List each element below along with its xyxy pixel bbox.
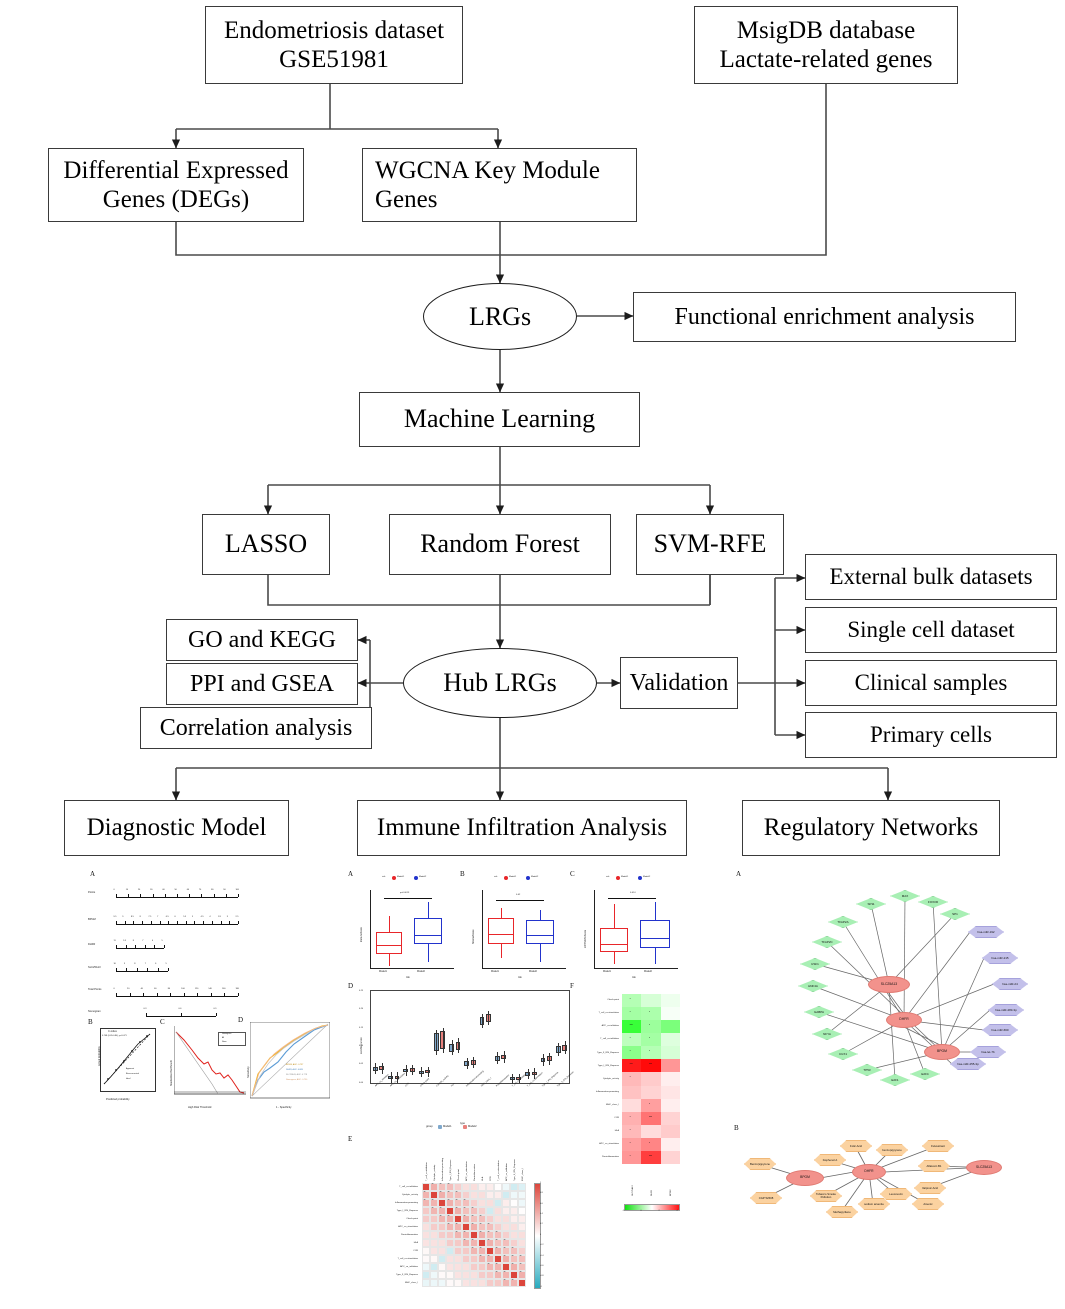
significance-star: **: [496, 1271, 498, 1274]
correlation-scale-tick: -0.6: [540, 1265, 543, 1267]
node-hub-lrgs[interactable]: Hub LRGs: [403, 648, 597, 718]
correlation-cell: [502, 1183, 510, 1191]
significance-star: *: [630, 1011, 631, 1014]
compound-node[interactable]: CGP 52608: [750, 1192, 782, 1204]
nomogram-tick: [221, 921, 222, 924]
correlation-cell: [438, 1279, 446, 1287]
nomogram-tick-label: 5.5: [183, 916, 186, 918]
node-label: LRGs: [469, 302, 531, 332]
node-go-and-kegg[interactable]: GO and KEGG: [166, 619, 358, 661]
heatmap-col-label: SLC25A13: [632, 1185, 634, 1196]
dca-xlabel: High Risk Threshold: [188, 1106, 211, 1109]
calibration-curve: [100, 1028, 154, 1090]
xtick-label: Model1: [491, 970, 499, 973]
correlation-colorbar: [534, 1183, 541, 1289]
nomogram-tick: [140, 894, 141, 897]
nomogram-tick: [145, 945, 146, 948]
ssgsea-whisker: [458, 1038, 459, 1053]
correlation-row-label: APC_co_inhibition: [348, 1266, 418, 1268]
group-swatch-model2: [463, 1125, 467, 1129]
heatmap-cell: [622, 1072, 641, 1085]
node-msigdb-database[interactable]: MsigDB database Lactate-related genes: [694, 6, 958, 84]
significance-star: **: [504, 1271, 506, 1274]
nomogram-tick-label: 8: [134, 963, 135, 965]
significance-star: **: [504, 1255, 506, 1258]
calibration-cindex-value: 0.748 (0.65-0.84); p<0.471: [102, 1035, 127, 1037]
node-label: Single cell dataset: [847, 616, 1014, 643]
nomogram-tick-label: 5: [162, 940, 163, 942]
node-correlation-analysis[interactable]: Correlation analysis: [140, 707, 372, 749]
node-label: Random Forest: [420, 529, 580, 560]
correlation-cell: [422, 1271, 430, 1279]
boxplot-immunescore: A risk Model1 Model2 p=0.0013 ImmuneScor…: [348, 870, 456, 980]
roc-legend-item: SLC25A13, AUC: 0.778: [286, 1074, 307, 1076]
compound-node[interactable]: Benzo(a)pyrene: [744, 1158, 776, 1170]
heatmap-scale-tick: 4: [677, 1210, 678, 1212]
nomogram-row-label: Nomogram: [88, 1010, 101, 1013]
nomogram-tick: [203, 921, 204, 924]
nomogram-tick-label: 9: [124, 963, 125, 965]
nomogram-tick: [165, 894, 166, 897]
dca-legend-item: Nomogram: [222, 1033, 231, 1035]
compound-node[interactable]: benzo(e)pyrene: [876, 1144, 908, 1156]
nomogram-tick-label: 9.5: [123, 940, 126, 942]
significance-star: **: [512, 1279, 514, 1282]
significance-star: **: [496, 1263, 498, 1266]
ssgsea-whisker: [482, 1014, 483, 1029]
correlation-col-label: Type_II_IFN_Reponse: [514, 1159, 516, 1181]
correlation-cell: [510, 1207, 518, 1215]
correlation-cell: [494, 1191, 502, 1199]
significance-star: **: [432, 1183, 434, 1186]
significance-star: **: [440, 1215, 442, 1218]
panel-label-c: C: [160, 1018, 165, 1026]
correlation-col-label: T_cell_co-inhibition: [426, 1162, 428, 1181]
correlation-cell: [422, 1263, 430, 1271]
correlation-cell: [494, 1207, 502, 1215]
significance-star: *: [630, 1155, 631, 1158]
ssgsea-ylabel: ssGSEA score: [360, 1037, 363, 1054]
correlation-cell: [510, 1239, 518, 1247]
nomogram-tick: [125, 921, 126, 924]
correlation-col-label: Cytolytic_activity: [434, 1165, 436, 1181]
significance-star: *: [630, 1116, 631, 1119]
node-ppi-and-gsea[interactable]: PPI and GSEA: [166, 663, 358, 705]
nomogram-tick-label: 7: [157, 916, 158, 918]
nomogram-tick: [168, 968, 169, 971]
correlation-cell: [494, 1199, 502, 1207]
compound-node[interactable]: Leucovorin: [880, 1188, 912, 1200]
nomogram-tick: [189, 894, 190, 897]
significance-star: **: [456, 1199, 458, 1202]
compound-node[interactable]: sodium arsenite: [858, 1198, 890, 1210]
correlation-cell: [494, 1279, 502, 1287]
significance-star: **: [512, 1255, 514, 1258]
correlation-cell: [422, 1183, 430, 1191]
node-svm-rfe[interactable]: SVM-RFE: [636, 514, 784, 575]
nomogram-tick-label: 0.9: [214, 1008, 217, 1010]
correlation-row-label: Cytolytic_activity: [348, 1194, 418, 1196]
legend-swatch-model2: [526, 876, 530, 880]
legend-swatch-model2: [414, 876, 418, 880]
heatmap-cell: [661, 1138, 680, 1151]
node-endometriosis-dataset[interactable]: Endometriosis dataset GSE51981: [205, 6, 463, 84]
correlation-cell: [518, 1183, 526, 1191]
node-label: MsigDB database Lactate-related genes: [719, 16, 932, 75]
correlation-cell: [438, 1231, 446, 1239]
nomogram-tick: [126, 945, 127, 948]
nomogram-tick-label: 90: [223, 889, 225, 891]
ssgsea-whisker: [558, 1043, 559, 1056]
compound-node[interactable]: Valproic Acid: [914, 1182, 946, 1194]
calibration-legend-item: Apparent: [126, 1068, 134, 1070]
heatmap-cell: [641, 1138, 660, 1151]
hub-gene-node[interactable]: DHFR: [886, 1012, 922, 1028]
nomogram-tick-label: 4.5: [201, 916, 204, 918]
significance-star: **: [440, 1207, 442, 1210]
significance-star: **: [456, 1223, 458, 1226]
nomogram-tick: [194, 921, 195, 924]
correlation-cell: [446, 1271, 454, 1279]
ssgsea-xtick-label: HLA: [451, 1083, 456, 1087]
compound-node[interactable]: Folic Acid: [840, 1140, 872, 1152]
nomogram-tick-label: 6.5: [166, 916, 169, 918]
panel-label-f: F: [570, 982, 574, 990]
heatmap-cell: [661, 1125, 680, 1138]
significance-star: **: [480, 1247, 482, 1250]
hub-gene-node[interactable]: BPGM: [924, 1044, 960, 1060]
correlation-cell: [430, 1247, 438, 1255]
correlation-cell: [422, 1207, 430, 1215]
correlation-cell: [470, 1231, 478, 1239]
hub-gene-node[interactable]: SLC25A13: [966, 1160, 1002, 1175]
correlation-col-label: Inflammation-promoting: [442, 1158, 444, 1181]
correlation-cell: [446, 1231, 454, 1239]
correlation-cell: [478, 1239, 486, 1247]
nomogram-tick-label: 80: [211, 889, 213, 891]
nomogram-tick-label: 100: [236, 889, 239, 891]
correlation-cell: [502, 1223, 510, 1231]
node-label: Functional enrichment analysis: [675, 303, 975, 331]
significance-star: **: [448, 1191, 450, 1194]
heatmap-row-label: T_cell_co-inhibition: [571, 1038, 619, 1040]
significance-star: *: [649, 1011, 650, 1014]
node-label: Machine Learning: [404, 404, 595, 435]
nomogram-tick: [184, 993, 185, 996]
node-label: LASSO: [225, 529, 307, 560]
heatmap-cell: [661, 1151, 680, 1164]
roc-ylabel: Sensitivity: [247, 1066, 250, 1078]
nomogram-tick: [212, 921, 213, 924]
heatmap-cell: [641, 1033, 660, 1046]
nomogram-tick: [133, 921, 134, 924]
nomogram-tick-label: 140: [208, 988, 211, 990]
correlation-cell: [446, 1239, 454, 1247]
node-validation[interactable]: Validation: [620, 657, 738, 709]
nomogram-tick-label: 70: [199, 889, 201, 891]
heatmap-cell: [661, 994, 680, 1007]
heatmap-cell: [661, 1072, 680, 1085]
significance-star: **: [464, 1199, 466, 1202]
roc-xlabel: 1 - Specificity: [276, 1106, 291, 1109]
heatmap-scale-tick: 0: [641, 1210, 642, 1212]
significance-star: **: [448, 1183, 450, 1186]
ssgsea-whisker: [473, 1057, 474, 1068]
hub-gene-node[interactable]: BPGM: [786, 1170, 824, 1186]
nomogram-tick-label: 60: [154, 988, 156, 990]
correlation-cell: [446, 1247, 454, 1255]
correlation-scale-tick: -0.2: [540, 1244, 543, 1246]
ssgsea-xtick-label: CCR: [405, 1083, 410, 1088]
nomogram-tick-label: 80: [168, 988, 170, 990]
nomogram-tick: [160, 921, 161, 924]
xtick-label: Model2: [417, 970, 425, 973]
correlation-cell: [486, 1191, 494, 1199]
correlation-cell: [470, 1255, 478, 1263]
significance-star: **: [480, 1223, 482, 1226]
nomogram-tick: [238, 894, 239, 897]
nomogram-tick-label: 20: [138, 889, 140, 891]
calibration-cindex-title: C-index: [108, 1030, 117, 1033]
xlabel: risk: [632, 976, 636, 979]
heatmap-row-label: Cytolytic_activity: [571, 1078, 619, 1080]
heatmap-scale-tick: 2: [659, 1210, 660, 1212]
correlation-row-label: MHC_class_I: [348, 1282, 418, 1284]
nomogram-tick-label: 11: [114, 940, 116, 942]
node-machine-learning[interactable]: Machine Learning: [359, 392, 640, 447]
nomogram-tick: [126, 968, 127, 971]
hub-gene-node[interactable]: SLC25A13: [868, 976, 910, 993]
nomogram-tick: [216, 1013, 217, 1016]
box-model1: [376, 932, 402, 954]
nomogram-tick-label: 9: [122, 916, 123, 918]
ssgsea-whisker: [421, 1067, 422, 1077]
significance-star: **: [520, 1255, 522, 1258]
heatmap-cell: [641, 1020, 660, 1033]
roc-plot: D Sensitivity 1 - Specificity BPGM, AUC:…: [238, 1018, 348, 1123]
nomogram-tick: [168, 921, 169, 924]
ssgsea-whisker: [504, 1051, 505, 1063]
correlation-scale-tick: 0.6: [540, 1203, 543, 1205]
significance-star: *: [630, 1037, 631, 1040]
significance-star: **: [480, 1255, 482, 1258]
node-random-forest[interactable]: Random Forest: [389, 514, 611, 575]
correlation-cell: [470, 1191, 478, 1199]
heatmap-cell: [641, 1046, 660, 1059]
boxplot-stromalscore: B risk Model1 Model2 0.42 StromalScore M…: [460, 870, 568, 980]
correlation-row-label: HLA: [348, 1242, 418, 1244]
correlation-cell: [438, 1255, 446, 1263]
nomogram-tick-label: 7.5: [148, 916, 151, 918]
ssgsea-whisker: [543, 1054, 544, 1066]
ssgsea-whisker: [443, 1028, 444, 1053]
heatmap-row-label: Inflammation-promoting: [571, 1091, 619, 1093]
correlation-cell: [478, 1271, 486, 1279]
correlation-cell: [518, 1231, 526, 1239]
node-primary-cells[interactable]: Primary cells: [805, 712, 1057, 758]
correlation-cell: [486, 1279, 494, 1287]
nomogram-tick: [116, 993, 117, 996]
heatmap-cell: [622, 1138, 641, 1151]
significance-star: **: [456, 1231, 458, 1234]
nomogram-row-label: SLC25A13: [88, 966, 101, 969]
panel-label-a: A: [348, 870, 353, 878]
correlation-cell: [502, 1231, 510, 1239]
correlation-cell: [510, 1215, 518, 1223]
significance-star: **: [480, 1215, 482, 1218]
ssgsea-ytick-label: 0.20: [359, 1008, 363, 1010]
node-label: Diagnostic Model: [87, 813, 267, 843]
ssgsea-whisker: [428, 1067, 429, 1077]
correlation-cell: [462, 1263, 470, 1271]
hub-gene-node[interactable]: DHFR: [852, 1164, 886, 1180]
correlation-cell: [454, 1247, 462, 1255]
node-functional-enrichment-analysis[interactable]: Functional enrichment analysis: [633, 292, 1016, 342]
correlation-cell: [454, 1279, 462, 1287]
significance-star: **: [440, 1191, 442, 1194]
nomogram-tick: [177, 921, 178, 924]
compound-node[interactable]: Aflatoxin B1: [918, 1160, 950, 1172]
correlation-cell: [486, 1215, 494, 1223]
node-diagnostic-model[interactable]: Diagnostic Model: [64, 800, 289, 856]
node-degs[interactable]: Differential Expressed Genes (DEGs): [48, 148, 304, 222]
panel-label-c: C: [570, 870, 575, 878]
correlation-row-label: CCR: [348, 1250, 418, 1252]
heatmap-cell: [661, 1033, 680, 1046]
node-immune-infiltration-analysis[interactable]: Immune Infiltration Analysis: [357, 800, 687, 856]
legend-item: Model2: [419, 876, 426, 878]
correlation-cell: [478, 1183, 486, 1191]
ylabel: ESTIMATEScore: [584, 930, 587, 948]
ssgsea-whisker: [412, 1065, 413, 1076]
node-label: PPI and GSEA: [190, 670, 334, 698]
heatmap-cell: [661, 1112, 680, 1125]
correlation-cell: [470, 1199, 478, 1207]
heatmap-cell: [622, 1151, 641, 1164]
correlation-col-label: Parainflammation: [474, 1164, 476, 1181]
heatmap-cell: [641, 994, 660, 1007]
dca-legend-item: None: [222, 1041, 227, 1043]
box-model1: [488, 918, 514, 944]
correlation-cell: [518, 1247, 526, 1255]
legend-title: risk: [382, 876, 385, 878]
group-legend-item: Model2: [468, 1125, 477, 1128]
nomogram-tick-label: 10: [114, 963, 116, 965]
ssgsea-group-legend-title: group: [426, 1125, 433, 1128]
correlation-cell: [486, 1207, 494, 1215]
heatmap-cell: [622, 994, 641, 1007]
ssgsea-boxplot: D 0.000.050.100.150.200.25 ssGSEA score …: [348, 982, 578, 1130]
nomogram-tick-label: 40: [162, 889, 164, 891]
compound-node[interactable]: Arsenic: [912, 1198, 944, 1210]
legend-title: risk: [606, 876, 609, 878]
heatmap-row-label: APC_co_stimulation: [571, 1143, 619, 1145]
ssgsea-whisker: [382, 1063, 383, 1074]
significance-star: *: [649, 1050, 650, 1053]
nomogram-tick-label: 0: [114, 889, 115, 891]
legend-item: Model1: [509, 876, 516, 878]
node-lrgs[interactable]: LRGs: [423, 283, 577, 350]
correlation-row-label: T_cell_co-stimulation: [348, 1258, 418, 1260]
correlation-row-label: Inflammation-promoting: [348, 1202, 418, 1204]
correlation-scale-tick: 0: [540, 1234, 541, 1236]
significance-star: **: [488, 1255, 490, 1258]
ssgsea-ytick-label: 0.15: [359, 1027, 363, 1029]
nomogram-tick-label: 6: [155, 963, 156, 965]
node-single-cell-dataset[interactable]: Single cell dataset: [805, 607, 1057, 653]
box-model1: [600, 928, 628, 952]
significance-star: **: [488, 1223, 490, 1226]
significance-star: **: [432, 1207, 434, 1210]
xlabel: risk: [518, 976, 522, 979]
nomogram-tick: [142, 921, 143, 924]
nomogram-tick-label: 50: [175, 889, 177, 891]
correlation-cell: [454, 1271, 462, 1279]
nomogram-tick: [143, 993, 144, 996]
nomogram-tick: [137, 968, 138, 971]
calibration-legend-item: Ideal: [126, 1078, 130, 1080]
correlation-cell: [470, 1279, 478, 1287]
nomogram-tick-label: 6: [175, 916, 176, 918]
heatmap-row-label: Parainflammation: [571, 1156, 619, 1158]
compound-node[interactable]: Methapyrilene: [826, 1206, 858, 1218]
correlation-col-label: HLA: [482, 1177, 484, 1181]
node-lasso[interactable]: LASSO: [202, 514, 330, 575]
significance-star: **: [488, 1239, 490, 1242]
node-clinical-samples[interactable]: Clinical samples: [805, 660, 1057, 706]
nomogram-tick-label: 8: [133, 940, 134, 942]
significance-star: **: [456, 1207, 458, 1210]
correlation-col-label: T_cell_co-stimulation: [498, 1160, 500, 1181]
node-external-bulk-datasets[interactable]: External bulk datasets: [805, 554, 1057, 600]
significance-star: *: [630, 1129, 631, 1132]
significance-star: *: [649, 1024, 650, 1027]
compound-node[interactable]: Tobacco Smoke Pollution: [810, 1190, 842, 1202]
correlation-cell: [430, 1263, 438, 1271]
correlation-cell: [486, 1271, 494, 1279]
heatmap-cell: [622, 1007, 641, 1020]
significance-star: ***: [649, 1116, 652, 1119]
nomogram-tick: [147, 968, 148, 971]
heatmap-row-label: MHC_class_I: [571, 1104, 619, 1106]
significance-star: **: [448, 1215, 450, 1218]
nomogram-tick-label: 2.5: [236, 916, 239, 918]
correlation-row-label: Parainflammation: [348, 1234, 418, 1236]
significance-star: **: [480, 1231, 482, 1234]
pvalue-label: p=0.0013: [400, 892, 409, 894]
correlation-col-label: Type_I_IFN_Reponse: [450, 1160, 452, 1181]
correlation-cell: [446, 1255, 454, 1263]
correlation-cell: [510, 1231, 518, 1239]
immune-heatmap: F Check-pointT_cell_co-stimulationAPC_co…: [570, 982, 686, 1232]
correlation-cell: [454, 1239, 462, 1247]
correlation-scale-tick: 1: [540, 1182, 541, 1184]
correlation-cell: [438, 1223, 446, 1231]
correlation-cell: [470, 1271, 478, 1279]
compound-node[interactable]: bisphenol A: [814, 1154, 846, 1166]
correlation-scale-tick: -0.8: [540, 1275, 543, 1277]
legend-item: Model1: [621, 876, 628, 878]
panel-label-a: A: [90, 870, 95, 878]
compound-node[interactable]: Fulvestrant: [922, 1140, 954, 1152]
node-regulatory-networks[interactable]: Regulatory Networks: [742, 800, 1000, 856]
correlation-col-label: APC_co_inhibition: [506, 1163, 508, 1181]
node-wgcna-key-module-genes[interactable]: WGCNA Key Module Genes: [362, 148, 637, 222]
node-label: Primary cells: [870, 721, 992, 748]
correlation-cell: [438, 1239, 446, 1247]
correlation-cell: [518, 1223, 526, 1231]
legend-swatch-model1: [616, 876, 620, 880]
